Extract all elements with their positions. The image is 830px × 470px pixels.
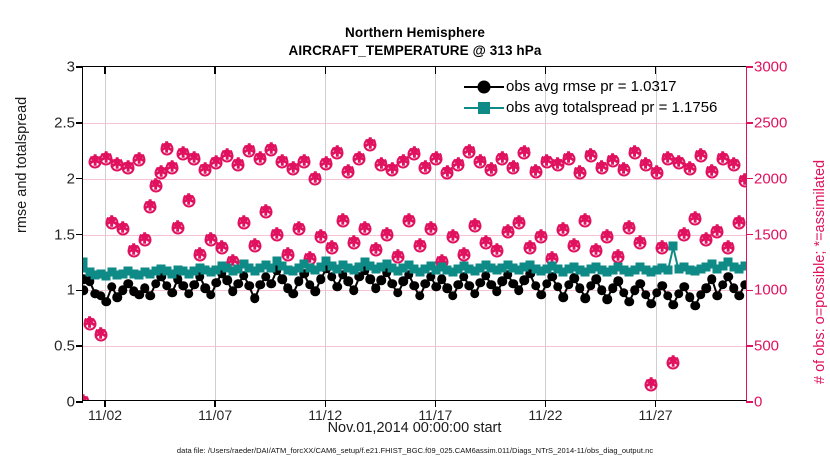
obs-assimilated-asterisk-icon: ✱: [573, 167, 586, 180]
obs-assimilated-asterisk-icon: ✱: [634, 237, 647, 250]
x-axis-tick-top: [655, 67, 656, 74]
obs-assimilated-asterisk-icon: ✱: [579, 215, 592, 228]
obs-assimilated-asterisk-icon: ✱: [325, 241, 338, 254]
rmse-marker: [366, 274, 376, 284]
obs-count-marker: ✱: [380, 228, 393, 241]
obs-count-marker: ✱: [144, 200, 157, 213]
obs-assimilated-asterisk-icon: ✱: [144, 200, 157, 213]
y-axis-tick-left: [76, 234, 83, 235]
y-axis-tick-left: [76, 66, 83, 67]
obs-count-marker: ✱: [116, 222, 129, 235]
rmse-marker: [388, 279, 398, 289]
obs-count-marker: ✱: [468, 219, 481, 232]
obs-count-marker: ✱: [650, 167, 663, 180]
chart-page: Northern Hemisphere AIRCRAFT_TEMPERATURE…: [0, 0, 830, 470]
x-axis-tick: [104, 400, 105, 407]
obs-count-marker: ✱: [612, 250, 625, 263]
rmse-marker: [740, 280, 746, 290]
legend-circle-icon: [478, 80, 491, 93]
obs-count-marker: ✱: [237, 217, 250, 230]
obs-assimilated-asterisk-icon: ✱: [727, 159, 740, 172]
rmse-marker: [349, 286, 359, 296]
obs-count-marker: ✱: [446, 230, 459, 243]
obs-assimilated-asterisk-icon: ✱: [133, 153, 146, 166]
legend-label: obs avg totalspread pr = 1.1756: [506, 99, 717, 116]
obs-count-marker: ✱: [353, 152, 366, 165]
y-axis-title-right: # of obs: o=possible; *=assimilated: [812, 160, 828, 384]
obs-assimilated-asterisk-icon: ✱: [298, 155, 311, 168]
y-axis-label-left: 0.5: [54, 338, 75, 355]
obs-assimilated-asterisk-icon: ✱: [270, 228, 283, 241]
obs-count-marker: ✱: [579, 215, 592, 228]
rmse-marker: [668, 300, 678, 310]
rmse-marker: [597, 286, 607, 296]
obs-count-marker: ✱: [402, 215, 415, 228]
obs-count-marker: ✱: [535, 230, 548, 243]
obs-count-marker: ✱: [325, 241, 338, 254]
x-axis-tick-top: [545, 67, 546, 74]
obs-assimilated-asterisk-icon: ✱: [733, 217, 746, 230]
obs-count-marker: ✱: [678, 228, 691, 241]
rmse-marker: [707, 274, 717, 284]
obs-count-marker: ✱: [138, 234, 151, 247]
obs-count-marker: ✱: [557, 224, 570, 237]
obs-assimilated-asterisk-icon: ✱: [83, 396, 90, 401]
rmse-marker: [311, 287, 321, 297]
y-axis-label-right: 3000: [754, 59, 787, 76]
obs-assimilated-asterisk-icon: ✱: [149, 180, 162, 193]
obs-assimilated-asterisk-icon: ✱: [237, 217, 250, 230]
y-axis-label-left: 1: [67, 282, 75, 299]
rmse-marker: [83, 286, 88, 296]
obs-assimilated-asterisk-icon: ✱: [689, 212, 702, 225]
obs-assimilated-asterisk-icon: ✱: [424, 222, 437, 235]
rmse-marker: [624, 297, 634, 307]
rmse-marker: [333, 282, 343, 292]
obs-assimilated-asterisk-icon: ✱: [160, 142, 173, 155]
obs-count-marker: ✱: [358, 222, 371, 235]
obs-assimilated-asterisk-icon: ✱: [94, 329, 107, 342]
rmse-marker: [145, 291, 155, 301]
obs-count-marker: ✱: [281, 248, 294, 261]
obs-count-marker: ✱: [683, 162, 696, 175]
obs-assimilated-asterisk-icon: ✱: [457, 248, 470, 261]
obs-assimilated-asterisk-icon: ✱: [490, 245, 503, 258]
obs-count-marker: ✱: [424, 222, 437, 235]
y-axis-tick-right: [746, 66, 753, 68]
obs-count-marker: ✱: [171, 221, 184, 234]
obs-count-marker: ✱: [568, 239, 581, 252]
legend-item-totalspread[interactable]: obs avg totalspread pr = 1.1756: [462, 97, 743, 118]
rmse-marker: [492, 287, 502, 297]
rmse-marker: [685, 292, 695, 302]
obs-assimilated-asterisk-icon: ✱: [512, 217, 525, 230]
obs-count-marker: ✱: [413, 239, 426, 252]
rmse-marker: [602, 295, 612, 305]
obs-assimilated-asterisk-icon: ✱: [380, 228, 393, 241]
obs-assimilated-asterisk-icon: ✱: [309, 172, 322, 185]
y-axis-tick-left: [76, 122, 83, 123]
rmse-marker: [514, 286, 524, 296]
obs-assimilated-asterisk-icon: ✱: [656, 241, 669, 254]
legend-marker-sample: [462, 76, 506, 97]
obs-assimilated-asterisk-icon: ✱: [358, 222, 371, 235]
obs-assimilated-asterisk-icon: ✱: [353, 152, 366, 165]
obs-assimilated-asterisk-icon: ✱: [650, 167, 663, 180]
y-axis-label-left: 1.5: [54, 226, 75, 243]
x-axis-tick: [435, 400, 436, 407]
rmse-marker: [415, 291, 425, 301]
obs-count-marker: ✱: [259, 206, 272, 219]
y-axis-label-right: 2500: [754, 114, 787, 131]
obs-assimilated-asterisk-icon: ✱: [166, 161, 179, 174]
obs-assimilated-asterisk-icon: ✱: [678, 228, 691, 241]
rmse-marker: [635, 279, 645, 289]
y-axis-label-right: 2000: [754, 170, 787, 187]
y-axis-tick-right: [746, 345, 753, 347]
obs-assimilated-asterisk-icon: ✱: [259, 206, 272, 219]
title-line-1: Northern Hemisphere: [0, 24, 830, 42]
obs-assimilated-asterisk-icon: ✱: [601, 230, 614, 243]
x-axis-tick-top: [325, 67, 326, 74]
title-line-2: AIRCRAFT_TEMPERATURE @ 313 hPa: [0, 42, 830, 60]
legend-marker-sample: [462, 97, 506, 118]
y-axis-tick-left: [76, 401, 83, 402]
x-axis-tick-top: [214, 67, 215, 74]
rmse-marker: [101, 297, 111, 307]
obs-assimilated-asterisk-icon: ✱: [518, 146, 531, 159]
y-axis-tick-left: [76, 178, 83, 179]
rmse-marker: [222, 276, 232, 286]
totalspread-marker: [663, 266, 672, 275]
rmse-marker: [211, 278, 221, 288]
obs-count-marker: ✱: [309, 172, 322, 185]
rmse-marker: [734, 291, 744, 301]
obs-count-marker: ✱: [347, 237, 360, 250]
y-axis-label-right: 1500: [754, 226, 787, 243]
rmse-marker: [289, 289, 299, 299]
y-axis-tick-right: [746, 290, 753, 292]
rmse-marker: [657, 281, 667, 291]
obs-assimilated-asterisk-icon: ✱: [705, 165, 718, 178]
obs-assimilated-asterisk-icon: ✱: [452, 159, 465, 172]
horizontal-gridline: [83, 346, 746, 347]
y-axis-label-left: 2.5: [54, 114, 75, 131]
y-axis-tick-right: [746, 122, 753, 124]
totalspread-marker: [83, 264, 88, 273]
obs-assimilated-asterisk-icon: ✱: [667, 356, 680, 369]
rmse-marker: [531, 281, 541, 291]
obs-assimilated-asterisk-icon: ✱: [683, 162, 696, 175]
rmse-marker: [558, 292, 568, 302]
rmse-marker: [613, 277, 623, 287]
horizontal-gridline: [83, 123, 746, 124]
obs-count-marker: ✱: [133, 153, 146, 166]
obs-count-marker: ✱: [733, 217, 746, 230]
obs-assimilated-asterisk-icon: ✱: [182, 195, 195, 208]
obs-count-marker: ✱: [232, 159, 245, 172]
obs-count-marker: ✱: [457, 248, 470, 261]
rmse-marker: [569, 273, 579, 283]
rmse-marker: [410, 281, 420, 291]
rmse-marker: [278, 274, 288, 284]
obs-assimilated-asterisk-icon: ✱: [557, 224, 570, 237]
obs-assimilated-asterisk-icon: ✱: [364, 139, 377, 152]
obs-assimilated-asterisk-icon: ✱: [391, 250, 404, 263]
obs-count-marker: ✱: [391, 250, 404, 263]
totalspread-marker: [740, 261, 746, 270]
x-axis-tick: [545, 400, 546, 407]
obs-assimilated-asterisk-icon: ✱: [248, 239, 261, 252]
rmse-marker: [580, 293, 590, 303]
obs-count-marker: ✱: [166, 161, 179, 174]
obs-count-marker: ✱: [94, 329, 107, 342]
legend-label: obs avg rmse pr = 1.0317: [506, 78, 677, 95]
obs-count-marker: ✱: [689, 212, 702, 225]
obs-assimilated-asterisk-icon: ✱: [446, 230, 459, 243]
chart-legend: obs avg rmse pr = 1.0317obs avg totalspr…: [462, 76, 743, 118]
obs-assimilated-asterisk-icon: ✱: [623, 221, 636, 234]
obs-assimilated-asterisk-icon: ✱: [347, 237, 360, 250]
obs-count-marker: ✱: [452, 159, 465, 172]
totalspread-marker: [669, 241, 678, 250]
rmse-marker: [679, 282, 689, 292]
obs-count-marker: ✱: [656, 241, 669, 254]
obs-count-marker: ✱: [512, 217, 525, 230]
obs-count-marker: ✱: [507, 161, 520, 174]
obs-count-marker: ✱: [601, 230, 614, 243]
chart-title: Northern Hemisphere AIRCRAFT_TEMPERATURE…: [0, 24, 830, 60]
obs-count-marker: ✱: [336, 215, 349, 228]
obs-count-marker: ✱: [270, 228, 283, 241]
obs-count-marker: ✱: [617, 163, 630, 176]
obs-count-marker: ✱: [369, 244, 382, 257]
rmse-marker: [575, 283, 585, 293]
rmse-marker: [663, 291, 673, 301]
obs-assimilated-asterisk-icon: ✱: [281, 248, 294, 261]
rmse-marker: [437, 274, 447, 284]
x-axis-tick-top: [104, 67, 105, 74]
rmse-marker: [316, 274, 326, 284]
obs-assimilated-asterisk-icon: ✱: [116, 222, 129, 235]
rmse-marker: [344, 277, 354, 287]
obs-count-marker: ✱: [298, 155, 311, 168]
obs-count-marker: ✱: [149, 180, 162, 193]
obs-count-marker: ✱: [738, 174, 746, 187]
obs-assimilated-asterisk-icon: ✱: [468, 219, 481, 232]
legend-square-icon: [478, 102, 490, 114]
x-axis-tick: [655, 400, 656, 407]
obs-assimilated-asterisk-icon: ✱: [738, 174, 746, 187]
rmse-marker: [167, 288, 177, 298]
rmse-marker: [536, 290, 546, 300]
y-axis-tick-left: [76, 345, 83, 346]
x-axis-tick-top: [435, 67, 436, 74]
obs-assimilated-asterisk-icon: ✱: [617, 163, 630, 176]
obs-assimilated-asterisk-icon: ✱: [413, 239, 426, 252]
y-axis-label-right: 500: [754, 338, 779, 355]
obs-count-marker: ✱: [292, 222, 305, 235]
obs-count-marker: ✱: [490, 245, 503, 258]
obs-count-marker: ✱: [364, 139, 377, 152]
y-axis-tick-left: [76, 290, 83, 291]
obs-count-marker: ✱: [182, 195, 195, 208]
rmse-marker: [107, 282, 117, 292]
obs-count-marker: ✱: [634, 237, 647, 250]
y-axis-label-left: 2: [67, 170, 75, 187]
rmse-marker: [184, 289, 194, 299]
rmse-marker: [206, 290, 216, 300]
y-axis-label-left: 3: [67, 59, 75, 76]
obs-assimilated-asterisk-icon: ✱: [369, 244, 382, 257]
obs-assimilated-asterisk-icon: ✱: [568, 239, 581, 252]
y-axis-label-right: 0: [754, 394, 762, 411]
y-axis-title-left: rmse and totalspread: [14, 97, 30, 233]
obs-count-marker: ✱: [248, 239, 261, 252]
obs-assimilated-asterisk-icon: ✱: [331, 146, 344, 159]
obs-count-marker: ✱: [705, 165, 718, 178]
obs-count-marker: ✱: [711, 226, 724, 239]
obs-count-marker: ✱: [645, 379, 658, 392]
vertical-gridline: [105, 67, 106, 400]
obs-count-marker: ✱: [83, 396, 90, 401]
obs-assimilated-asterisk-icon: ✱: [507, 161, 520, 174]
rmse-marker: [646, 299, 656, 309]
obs-assimilated-asterisk-icon: ✱: [402, 215, 415, 228]
rmse-marker: [712, 291, 722, 301]
obs-assimilated-asterisk-icon: ✱: [232, 159, 245, 172]
rmse-marker: [448, 291, 458, 301]
y-axis-tick-right: [746, 401, 753, 403]
rmse-marker: [690, 301, 700, 311]
legend-item-rmse[interactable]: obs avg rmse pr = 1.0317: [462, 76, 743, 97]
rmse-marker: [641, 290, 651, 300]
rmse-marker: [701, 283, 711, 293]
obs-assimilated-asterisk-icon: ✱: [612, 250, 625, 263]
obs-count-marker: ✱: [727, 159, 740, 172]
rmse-marker: [245, 281, 255, 291]
rmse-marker: [470, 289, 480, 299]
obs-assimilated-asterisk-icon: ✱: [694, 150, 707, 163]
horizontal-gridline: [83, 179, 746, 180]
obs-assimilated-asterisk-icon: ✱: [138, 234, 151, 247]
rmse-marker: [619, 288, 629, 298]
obs-count-marker: ✱: [590, 245, 603, 258]
obs-assimilated-asterisk-icon: ✱: [342, 165, 355, 178]
data-file-caption: data file: /Users/raeder/DAI/ATM_forcXX/…: [0, 446, 830, 455]
obs-assimilated-asterisk-icon: ✱: [722, 241, 735, 254]
obs-count-marker: ✱: [694, 150, 707, 163]
obs-assimilated-asterisk-icon: ✱: [292, 222, 305, 235]
rmse-marker: [553, 282, 563, 292]
obs-count-marker: ✱: [342, 165, 355, 178]
rmse-marker: [591, 274, 601, 284]
rmse-marker: [267, 279, 277, 289]
obs-assimilated-asterisk-icon: ✱: [171, 221, 184, 234]
x-axis-tick: [325, 400, 326, 407]
rmse-marker: [250, 293, 260, 303]
obs-count-marker: ✱: [667, 356, 680, 369]
obs-count-marker: ✱: [722, 241, 735, 254]
obs-count-marker: ✱: [518, 146, 531, 159]
y-axis-tick-right: [746, 178, 753, 180]
obs-count-marker: ✱: [331, 146, 344, 159]
obs-assimilated-asterisk-icon: ✱: [535, 230, 548, 243]
x-axis-tick: [214, 400, 215, 407]
obs-assimilated-asterisk-icon: ✱: [711, 226, 724, 239]
obs-assimilated-asterisk-icon: ✱: [645, 379, 658, 392]
y-axis-label-left: 0: [67, 394, 75, 411]
obs-count-marker: ✱: [160, 142, 173, 155]
rmse-marker: [723, 272, 733, 282]
obs-count-marker: ✱: [623, 221, 636, 234]
rmse-marker: [393, 288, 403, 298]
obs-assimilated-asterisk-icon: ✱: [336, 215, 349, 228]
obs-assimilated-asterisk-icon: ✱: [193, 248, 206, 261]
y-axis-tick-right: [746, 234, 753, 236]
y-axis-label-right: 1000: [754, 282, 787, 299]
obs-count-marker: ✱: [193, 248, 206, 261]
obs-assimilated-asterisk-icon: ✱: [590, 245, 603, 258]
x-axis-title: Nov.01,2014 00:00:00 start: [82, 420, 747, 436]
obs-count-marker: ✱: [573, 167, 586, 180]
